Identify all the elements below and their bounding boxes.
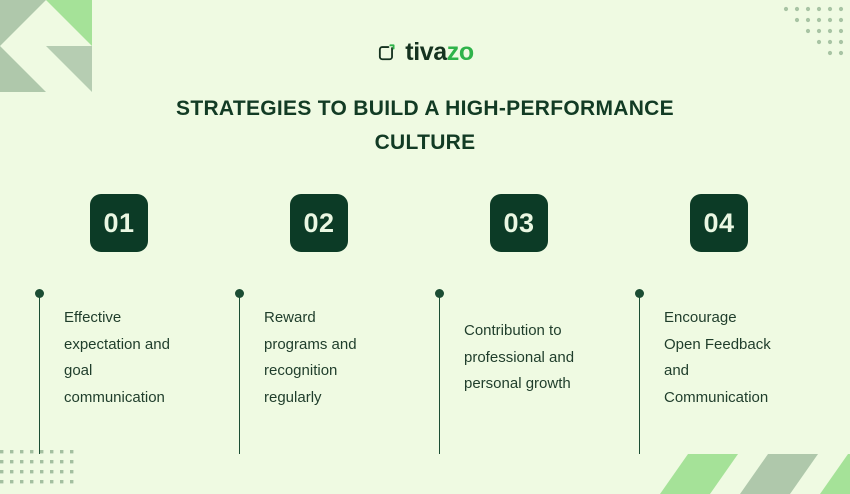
tivazo-bracket-logo-icon	[376, 42, 398, 64]
timeline-stem-02	[235, 289, 244, 454]
brand-name-part1: tiva	[405, 38, 446, 66]
infographic-canvas: tivazo STRATEGIES TO BUILD A HIGH-PERFOR…	[0, 0, 850, 494]
step-description-02: Reward programs and recognition regularl…	[264, 305, 424, 411]
timeline-line	[639, 296, 641, 454]
timeline-line	[239, 296, 241, 454]
brand-name: tivazo	[405, 40, 473, 65]
step-badge-04: 04	[690, 194, 748, 252]
timeline-line	[39, 296, 41, 454]
step-description-03: Contribution to professional and persona…	[464, 318, 629, 398]
step-badge-02: 02	[290, 194, 348, 252]
timeline-stem-04	[635, 289, 644, 454]
brand-logo: tivazo	[0, 40, 850, 65]
step-description-04: Encourage Open Feedback and Communicatio…	[664, 305, 829, 411]
step-badge-03: 03	[490, 194, 548, 252]
diagonal-stripes-decoration	[660, 454, 850, 494]
timeline-stem-01	[35, 289, 44, 454]
step-description-01: Effective expectation and goal communica…	[64, 305, 224, 411]
dot-grid-decoration	[0, 448, 82, 488]
page-title: STRATEGIES TO BUILD A HIGH-PERFORMANCE C…	[125, 92, 725, 160]
brand-name-part2: zo	[447, 38, 474, 66]
timeline-line	[439, 296, 441, 454]
step-badge-01: 01	[90, 194, 148, 252]
timeline-stem-03	[435, 289, 444, 454]
